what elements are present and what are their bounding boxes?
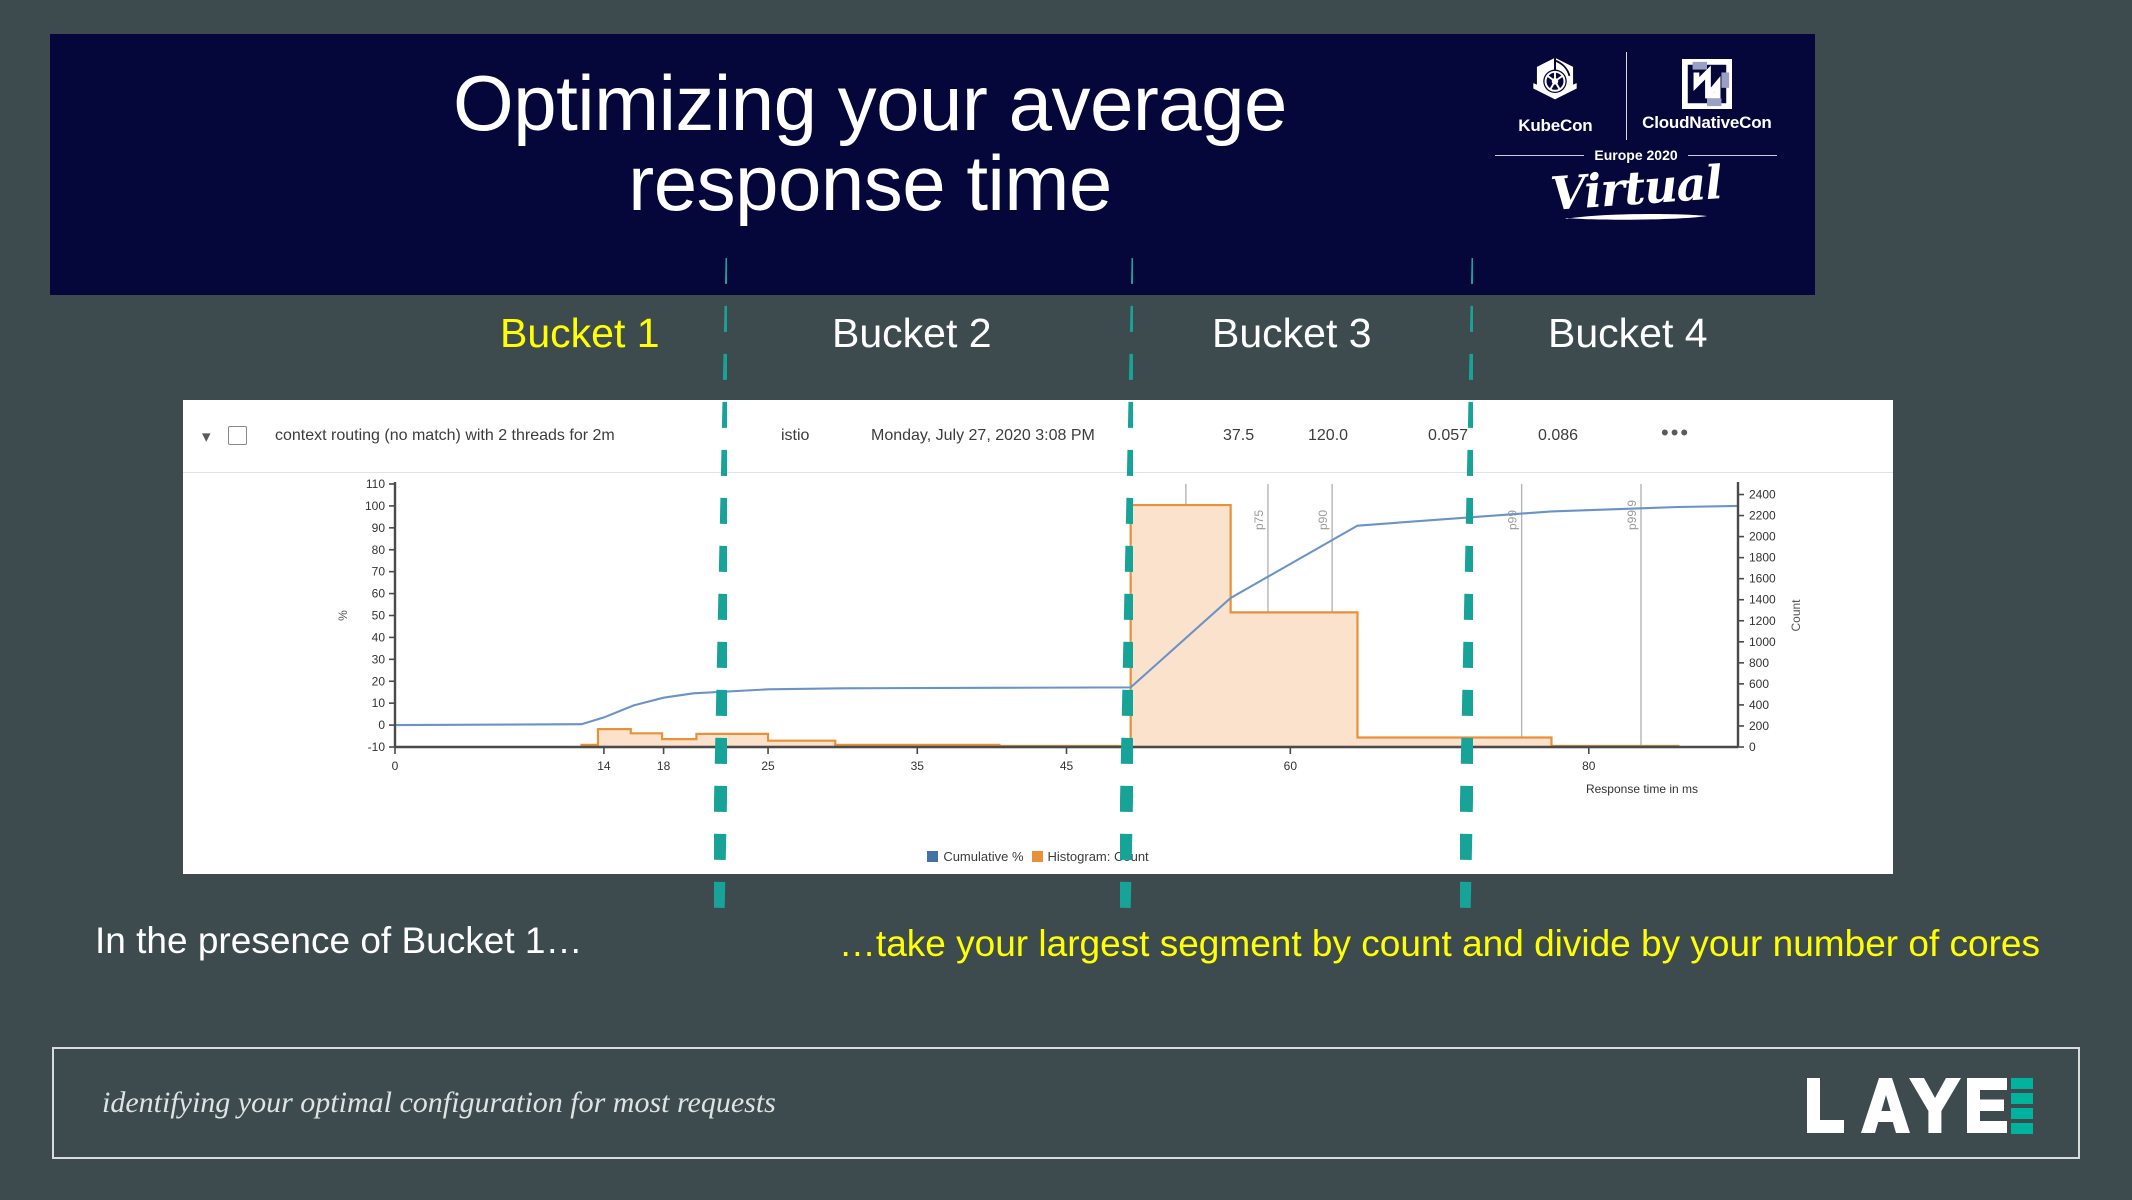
svg-text:p99: p99 [1506, 510, 1520, 530]
svg-text:10: 10 [372, 696, 386, 710]
result-row[interactable]: ▾ context routing (no match) with 2 thre… [183, 400, 1893, 473]
svg-text:0: 0 [392, 759, 399, 773]
svg-text:p75: p75 [1252, 510, 1266, 530]
svg-text:0: 0 [378, 718, 385, 732]
legend-swatch-cumulative [927, 851, 938, 862]
svg-text:30: 30 [372, 652, 386, 666]
svg-text:p99.9: p99.9 [1625, 500, 1639, 530]
result-date: Monday, July 27, 2020 3:08 PM [871, 427, 1095, 445]
cloudnativecon-wordmark: CloudNativeCon [1633, 113, 1781, 133]
slide-root: Optimizing your average response time [0, 0, 2132, 1200]
svg-text:2200: 2200 [1749, 509, 1776, 523]
performance-result-card: ▾ context routing (no match) with 2 thre… [183, 400, 1893, 874]
histogram-chart: p50p75p90p99p99.9-1001020304050607080901… [183, 472, 1893, 874]
footer-tagline: identifying your optimal configuration f… [102, 1086, 776, 1120]
bucket-label-row: Bucket 1 Bucket 2 Bucket 3 Bucket 4 [0, 310, 2132, 372]
svg-text:110: 110 [366, 477, 385, 491]
svg-text:2400: 2400 [1749, 488, 1776, 502]
svg-text:70: 70 [372, 565, 386, 579]
cloudnativecon-icon [1682, 59, 1732, 109]
svg-text:45: 45 [1060, 759, 1074, 773]
result-metric-4: 0.086 [1538, 427, 1578, 445]
row-checkbox[interactable] [228, 426, 247, 445]
bucket-label-2: Bucket 2 [832, 310, 992, 357]
caption-left: In the presence of Bucket 1… [95, 920, 755, 962]
slide-header: Optimizing your average response time [50, 34, 1815, 295]
bucket-label-1: Bucket 1 [500, 310, 660, 357]
legend-item-cumulative: Cumulative % [927, 849, 1023, 864]
title-line-2: response time [50, 144, 1690, 224]
svg-text:60: 60 [372, 587, 386, 601]
svg-text:Response time in ms: Response time in ms [1586, 782, 1698, 796]
svg-text:-10: -10 [368, 740, 386, 754]
svg-text:60: 60 [1284, 759, 1298, 773]
svg-text:25: 25 [761, 759, 775, 773]
layer5-logo [1804, 1075, 2036, 1137]
chevron-down-icon[interactable]: ▾ [202, 428, 211, 445]
page-title: Optimizing your average response time [50, 64, 1690, 223]
kubecon-cloudnativecon-logo: KubeCon CloudNativeCon [1491, 52, 1781, 272]
svg-text:1600: 1600 [1749, 572, 1776, 586]
bucket-label-4: Bucket 4 [1548, 310, 1708, 357]
result-name: context routing (no match) with 2 thread… [275, 427, 615, 445]
svg-text:18: 18 [657, 759, 671, 773]
result-mesh: istio [781, 427, 809, 445]
svg-text:50: 50 [372, 609, 386, 623]
svg-text:80: 80 [1582, 759, 1596, 773]
svg-text:400: 400 [1749, 698, 1769, 712]
bucket-divider-2 [1120, 258, 1133, 918]
svg-text:200: 200 [1749, 719, 1769, 733]
svg-text:1400: 1400 [1749, 593, 1776, 607]
svg-text:0: 0 [1749, 740, 1756, 754]
bucket-label-3: Bucket 3 [1212, 310, 1372, 357]
svg-text:100: 100 [365, 499, 385, 513]
row-overflow-menu-icon[interactable]: ••• [1661, 420, 1690, 446]
kubernetes-helm-icon [1526, 56, 1584, 112]
svg-text:1200: 1200 [1749, 614, 1776, 628]
legend-label-histogram: Histogram: Count [1048, 849, 1149, 864]
slide-footer: identifying your optimal configuration f… [52, 1047, 2080, 1159]
chart-canvas: p50p75p90p99p99.9-1001020304050607080901… [183, 472, 1893, 832]
svg-text:%: % [336, 610, 350, 621]
svg-text:90: 90 [372, 521, 386, 535]
legend-label-cumulative: Cumulative % [943, 849, 1023, 864]
result-metric-2: 120.0 [1308, 427, 1348, 445]
svg-text:2000: 2000 [1749, 530, 1776, 544]
chart-legend: Cumulative % Histogram: Count [183, 849, 1893, 864]
caption-right: …take your largest segment by count and … [790, 920, 2040, 967]
result-metric-1: 37.5 [1223, 427, 1254, 445]
svg-text:35: 35 [911, 759, 925, 773]
bucket-divider-1 [714, 258, 727, 918]
title-line-1: Optimizing your average [50, 64, 1690, 144]
svg-text:1800: 1800 [1749, 551, 1776, 565]
virtual-script-wordmark: Virtual [1490, 155, 1783, 221]
svg-text:14: 14 [597, 759, 611, 773]
svg-text:800: 800 [1749, 656, 1769, 670]
svg-text:Count: Count [1789, 599, 1803, 632]
bucket-divider-3 [1460, 258, 1473, 918]
svg-text:80: 80 [372, 543, 386, 557]
svg-text:1000: 1000 [1749, 635, 1776, 649]
legend-swatch-histogram [1032, 851, 1043, 862]
logo-divider [1626, 52, 1627, 140]
kubecon-wordmark: KubeCon [1491, 116, 1620, 136]
svg-text:40: 40 [372, 630, 386, 644]
svg-text:20: 20 [372, 674, 386, 688]
rule-left [1495, 155, 1584, 156]
svg-text:600: 600 [1749, 677, 1769, 691]
svg-text:p90: p90 [1316, 510, 1330, 530]
